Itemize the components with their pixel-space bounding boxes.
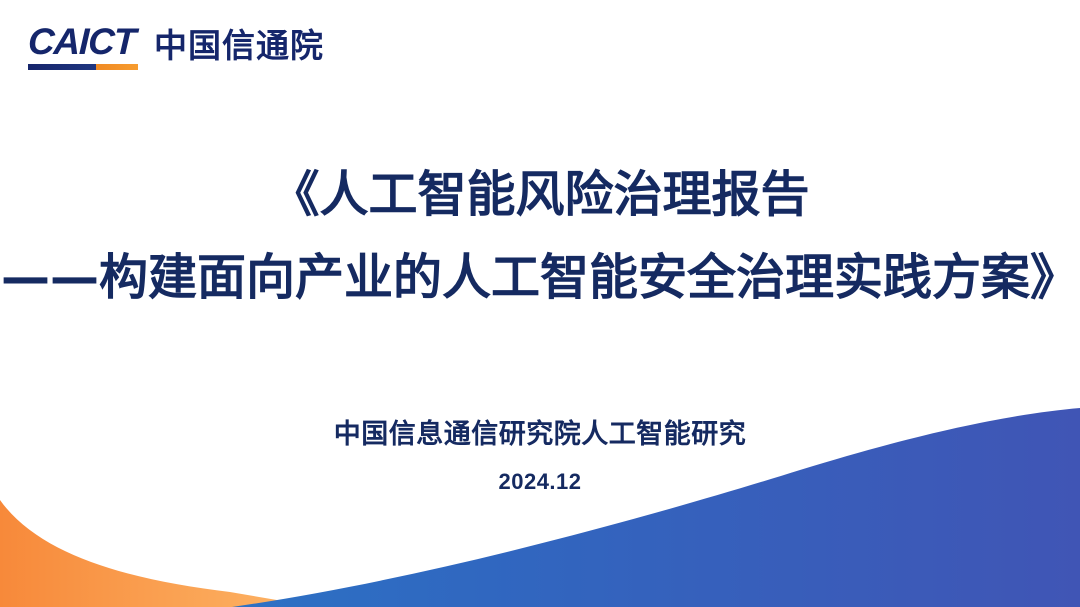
report-title: 《人工智能风险治理报告 ——构建面向产业的人工智能安全治理实践方案》: [0, 164, 1080, 309]
underline-navy-segment: [28, 64, 96, 70]
report-byline: 中国信息通信研究院人工智能研究 2024.12: [0, 418, 1080, 495]
caict-underline-bar: [28, 64, 138, 70]
caict-wordmark: CAICT: [27, 23, 138, 61]
caict-logo: CAICT 中国信通院: [28, 18, 324, 70]
report-cover-slide: CAICT 中国信通院 《人工智能风险治理报告 ——构建面向产业的人工智能安全治…: [0, 0, 1080, 607]
report-title-line-1: 《人工智能风险治理报告: [0, 164, 1080, 226]
caict-chinese-name: 中国信通院: [154, 29, 324, 63]
publisher-organization: 中国信息通信研究院人工智能研究: [0, 418, 1080, 452]
publication-date: 2024.12: [0, 469, 1080, 495]
caict-logo-mark: CAICT: [28, 23, 138, 70]
underline-orange-segment: [96, 64, 138, 70]
orange-wave-shape: [0, 500, 318, 607]
report-title-line-2: ——构建面向产业的人工智能安全治理实践方案》: [0, 247, 1080, 309]
